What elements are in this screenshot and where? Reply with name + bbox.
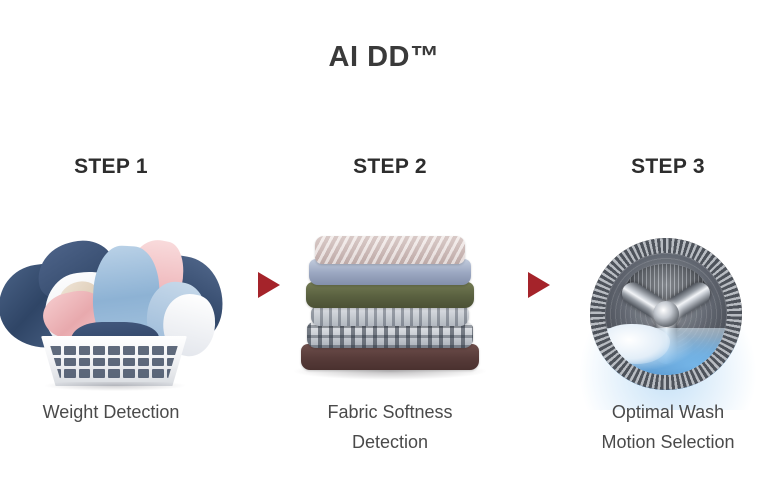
washer-drum-illustration [590, 238, 746, 394]
arrow-step1-to-step2-icon [258, 272, 280, 298]
drum-rim [590, 238, 742, 390]
folded-item-olive [306, 282, 474, 308]
ai-dd-infographic: AI DD™ STEP 1 [0, 0, 768, 500]
steps-container: STEP 1 [0, 150, 768, 480]
step-caption-2: Fabric Softness Detection [262, 397, 518, 457]
step-label-3: STEP 3 [540, 155, 768, 179]
basket-shadow [45, 382, 185, 391]
step-image-3-washer-drum [540, 198, 768, 388]
step-card-1: STEP 1 [0, 150, 239, 480]
step-caption-3: Optimal Wash Motion Selection [540, 397, 768, 457]
page-title: AI DD™ [0, 41, 768, 74]
step-image-2-folded-clothes [262, 198, 518, 388]
step-card-2: STEP 2 Fabric Softness Detection [262, 150, 518, 480]
step-label-1: STEP 1 [0, 155, 239, 179]
step-image-1-laundry-basket [0, 198, 239, 388]
step-caption-2-line-1: Fabric Softness [327, 402, 452, 422]
basket-vent-holes [47, 344, 181, 380]
laundry-basket-illustration [0, 236, 225, 388]
step-caption-3-line-2: Motion Selection [601, 432, 734, 452]
step-card-3: STEP 3 [540, 150, 768, 480]
arrow-step2-to-step3-icon [528, 272, 550, 298]
drum-body [590, 238, 742, 390]
folded-item-beige [315, 236, 465, 264]
folded-clothes-stack-illustration [284, 228, 496, 388]
step-caption-3-line-1: Optimal Wash [612, 402, 724, 422]
folded-item-gray [311, 306, 469, 326]
step-caption-1: Weight Detection [0, 397, 239, 427]
step-label-2: STEP 2 [262, 155, 518, 179]
step-caption-2-line-2: Detection [352, 432, 428, 452]
